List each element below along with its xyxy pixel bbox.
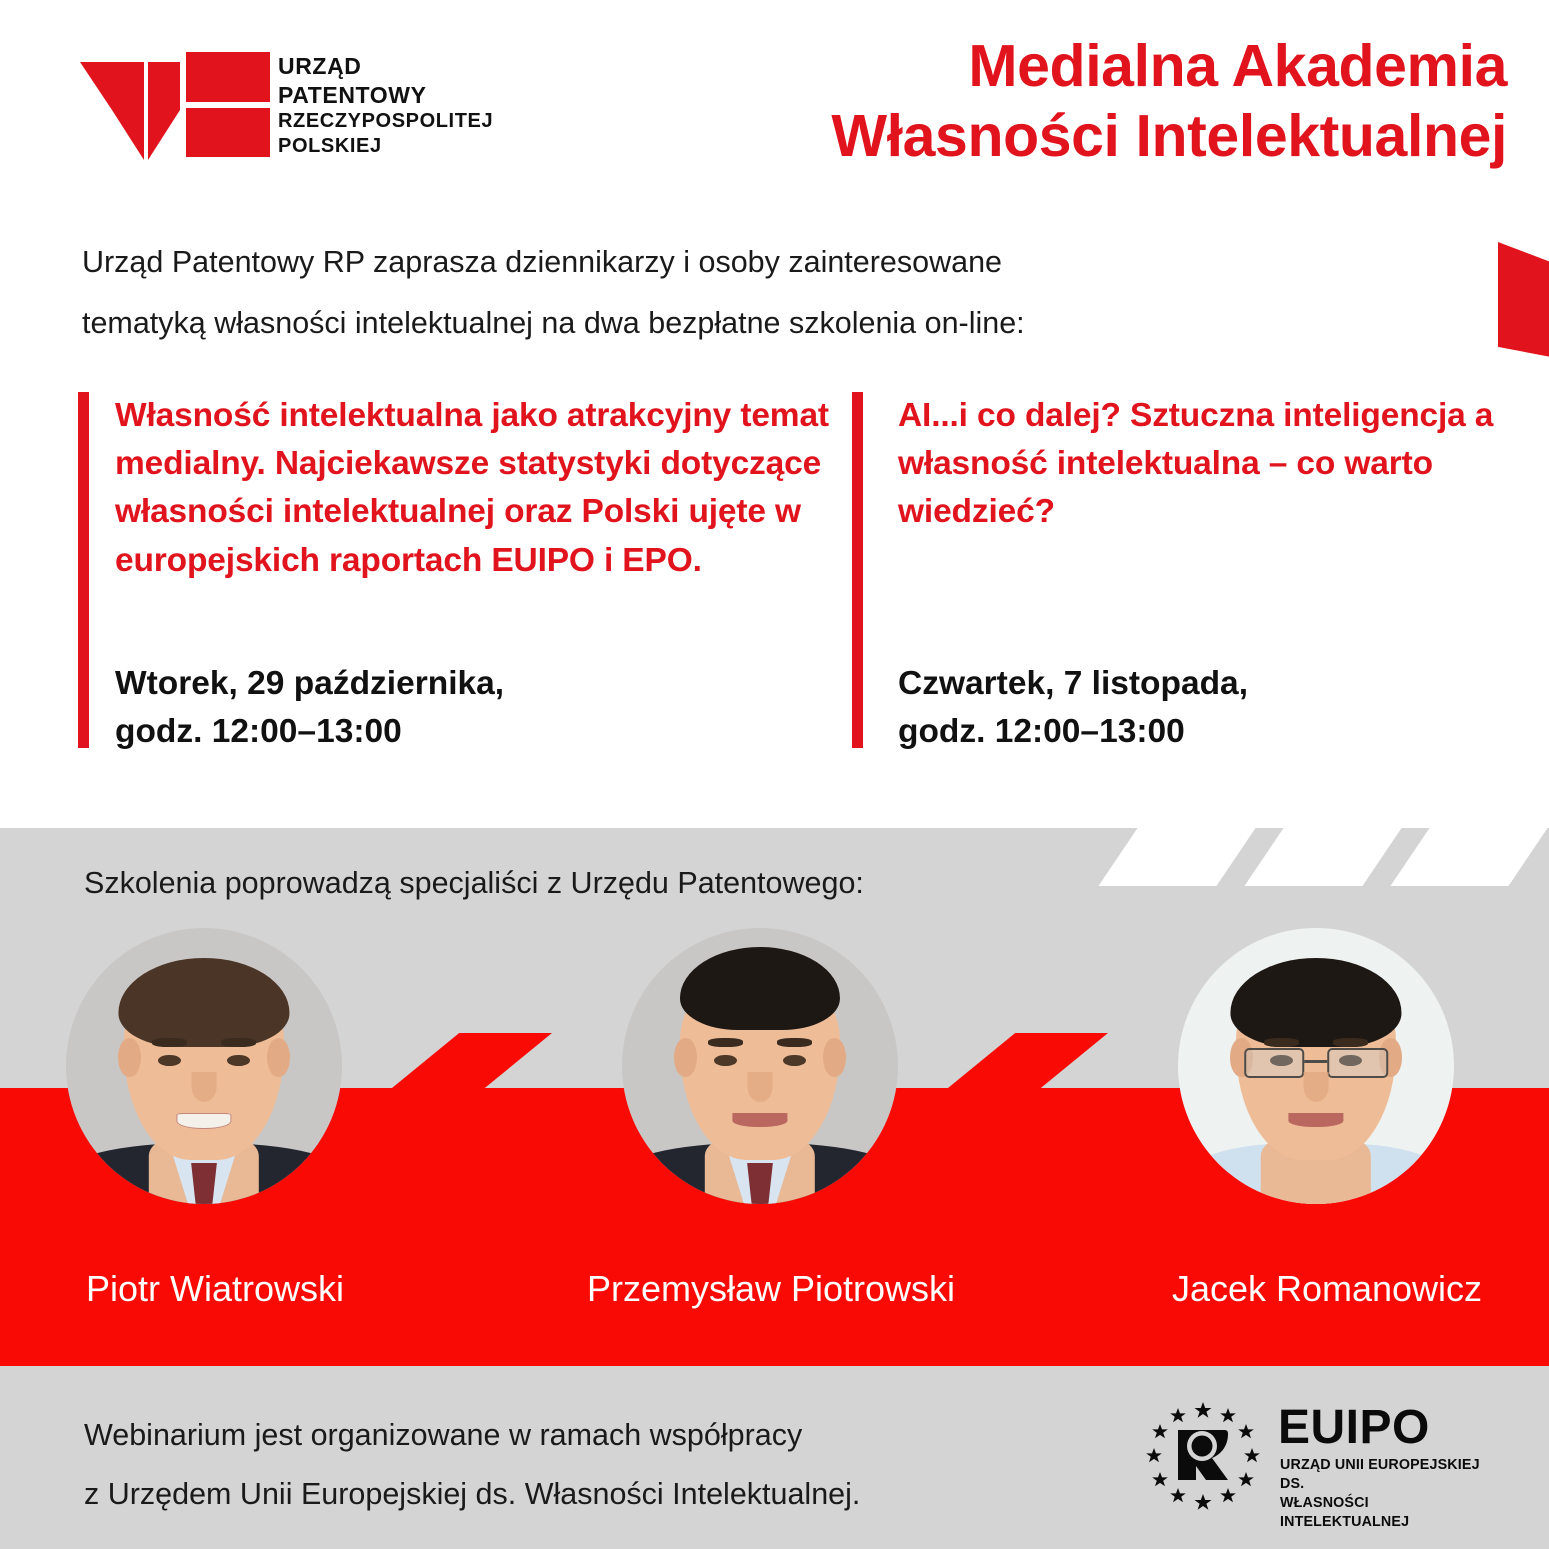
- footer-line-1: Webinarium jest organizowane w ramach ws…: [84, 1406, 860, 1465]
- uprp-chevron-logo-icon: [78, 50, 273, 168]
- speaker-photo-jacek-romanowicz: [1178, 928, 1454, 1204]
- euipo-subtitle-line-1: URZĄD UNII EUROPEJSKIEJ DS.: [1280, 1456, 1494, 1494]
- avatar: [1178, 928, 1454, 1204]
- ear-right: [823, 1038, 845, 1077]
- page-title-line-1: Medialna Akademia: [831, 32, 1507, 102]
- hair-shape: [118, 958, 289, 1046]
- ear-right: [267, 1038, 289, 1077]
- uprp-logo-wordmark: URZĄD PATENTOWY RZECZYPOSPOLITEJ POLSKIE…: [278, 52, 518, 159]
- session-1-title: Własność intelektualna jako atrakcyjny t…: [115, 392, 835, 585]
- session-2-time: godz. 12:00–13:00: [898, 708, 1248, 756]
- page-title: Medialna Akademia Własności Intelektualn…: [831, 32, 1507, 171]
- avatar: [622, 928, 898, 1204]
- session-2-title: AI...i co dalej? Sztuczna inteligencja a…: [898, 392, 1549, 537]
- speaker-name-1: Piotr Wiatrowski: [0, 1268, 430, 1310]
- logo-line-3: RZECZYPOSPOLITEJ: [278, 109, 518, 134]
- speakers-section-label: Szkolenia poprowadzą specjaliści z Urzęd…: [84, 866, 864, 901]
- speaker-photo-przemyslaw-piotrowski: [622, 928, 898, 1204]
- intro-paragraph: Urząd Patentowy RP zaprasza dziennikarzy…: [82, 232, 1232, 354]
- session-1-time: godz. 12:00–13:00: [115, 708, 504, 756]
- logo-line-2: PATENTOWY: [278, 81, 518, 110]
- mouth-shape: [1288, 1113, 1343, 1127]
- poster-canvas: URZĄD PATENTOWY RZECZYPOSPOLITEJ POLSKIE…: [0, 0, 1549, 1549]
- top-section: URZĄD PATENTOWY RZECZYPOSPOLITEJ POLSKIE…: [0, 0, 1549, 828]
- session-2-date: Czwartek, 7 listopada,: [898, 660, 1248, 708]
- brow-left: [1264, 1038, 1300, 1047]
- mouth-shape: [176, 1113, 231, 1130]
- lens-right: [1327, 1048, 1387, 1078]
- stripe-3: [1390, 828, 1547, 886]
- intro-line-2: tematyką własności intelektualnej na dwa…: [82, 293, 1232, 354]
- decorative-red-parallelogram: [1498, 242, 1549, 364]
- session-1-schedule: Wtorek, 29 października, godz. 12:00–13:…: [115, 660, 504, 755]
- brow-right: [777, 1038, 813, 1047]
- session-1-date: Wtorek, 29 października,: [115, 660, 504, 708]
- speaker-photo-piotr-wiatrowski: [66, 928, 342, 1204]
- session-2-schedule: Czwartek, 7 listopada, godz. 12:00–13:00: [898, 660, 1248, 755]
- euipo-stars-emblem-icon: [1144, 1400, 1264, 1510]
- brow-right: [1333, 1038, 1369, 1047]
- stripe-1: [1098, 828, 1255, 886]
- nose-shape: [748, 1072, 773, 1102]
- speaker-name-2: Przemysław Piotrowski: [556, 1268, 986, 1310]
- brow-left: [708, 1038, 744, 1047]
- footer-section: Webinarium jest organizowane w ramach ws…: [0, 1366, 1549, 1549]
- ear-left: [674, 1038, 696, 1077]
- brow-right: [221, 1038, 257, 1047]
- nose-shape: [192, 1072, 217, 1102]
- ear-left: [118, 1038, 140, 1077]
- nose-shape: [1304, 1072, 1329, 1102]
- session-accent-bar: [852, 392, 863, 748]
- hair-shape: [680, 947, 840, 1030]
- decorative-white-stripes: [1096, 828, 1549, 886]
- footer-line-2: z Urzędem Unii Europejskiej ds. Własnośc…: [84, 1465, 860, 1524]
- speaker-name-3: Jacek Romanowicz: [1112, 1268, 1542, 1310]
- euipo-subtitle-line-2: WŁASNOŚCI INTELEKTUALNEJ: [1280, 1494, 1494, 1532]
- eye-right: [227, 1055, 249, 1066]
- footer-paragraph: Webinarium jest organizowane w ramach ws…: [84, 1406, 860, 1525]
- euipo-wordmark: EUIPO: [1278, 1404, 1430, 1452]
- glasses-bridge: [1305, 1060, 1328, 1063]
- eye-left: [714, 1055, 736, 1066]
- intro-line-1: Urząd Patentowy RP zaprasza dziennikarzy…: [82, 232, 1232, 293]
- euipo-logo: EUIPO URZĄD UNII EUROPEJSKIEJ DS. WŁASNO…: [1144, 1400, 1494, 1510]
- eye-left: [158, 1055, 180, 1066]
- session-accent-bar: [78, 392, 89, 748]
- euipo-subtitle: URZĄD UNII EUROPEJSKIEJ DS. WŁASNOŚCI IN…: [1280, 1456, 1494, 1531]
- hair-shape: [1230, 958, 1401, 1046]
- lens-left: [1244, 1048, 1304, 1078]
- mouth-shape: [732, 1113, 787, 1127]
- page-title-line-2: Własności Intelektualnej: [831, 102, 1507, 172]
- logo-line-1: URZĄD: [278, 52, 518, 81]
- brow-left: [152, 1038, 188, 1047]
- eye-right: [783, 1055, 805, 1066]
- logo-line-4: POLSKIEJ: [278, 134, 518, 159]
- avatar: [66, 928, 342, 1204]
- stripe-2: [1244, 828, 1401, 886]
